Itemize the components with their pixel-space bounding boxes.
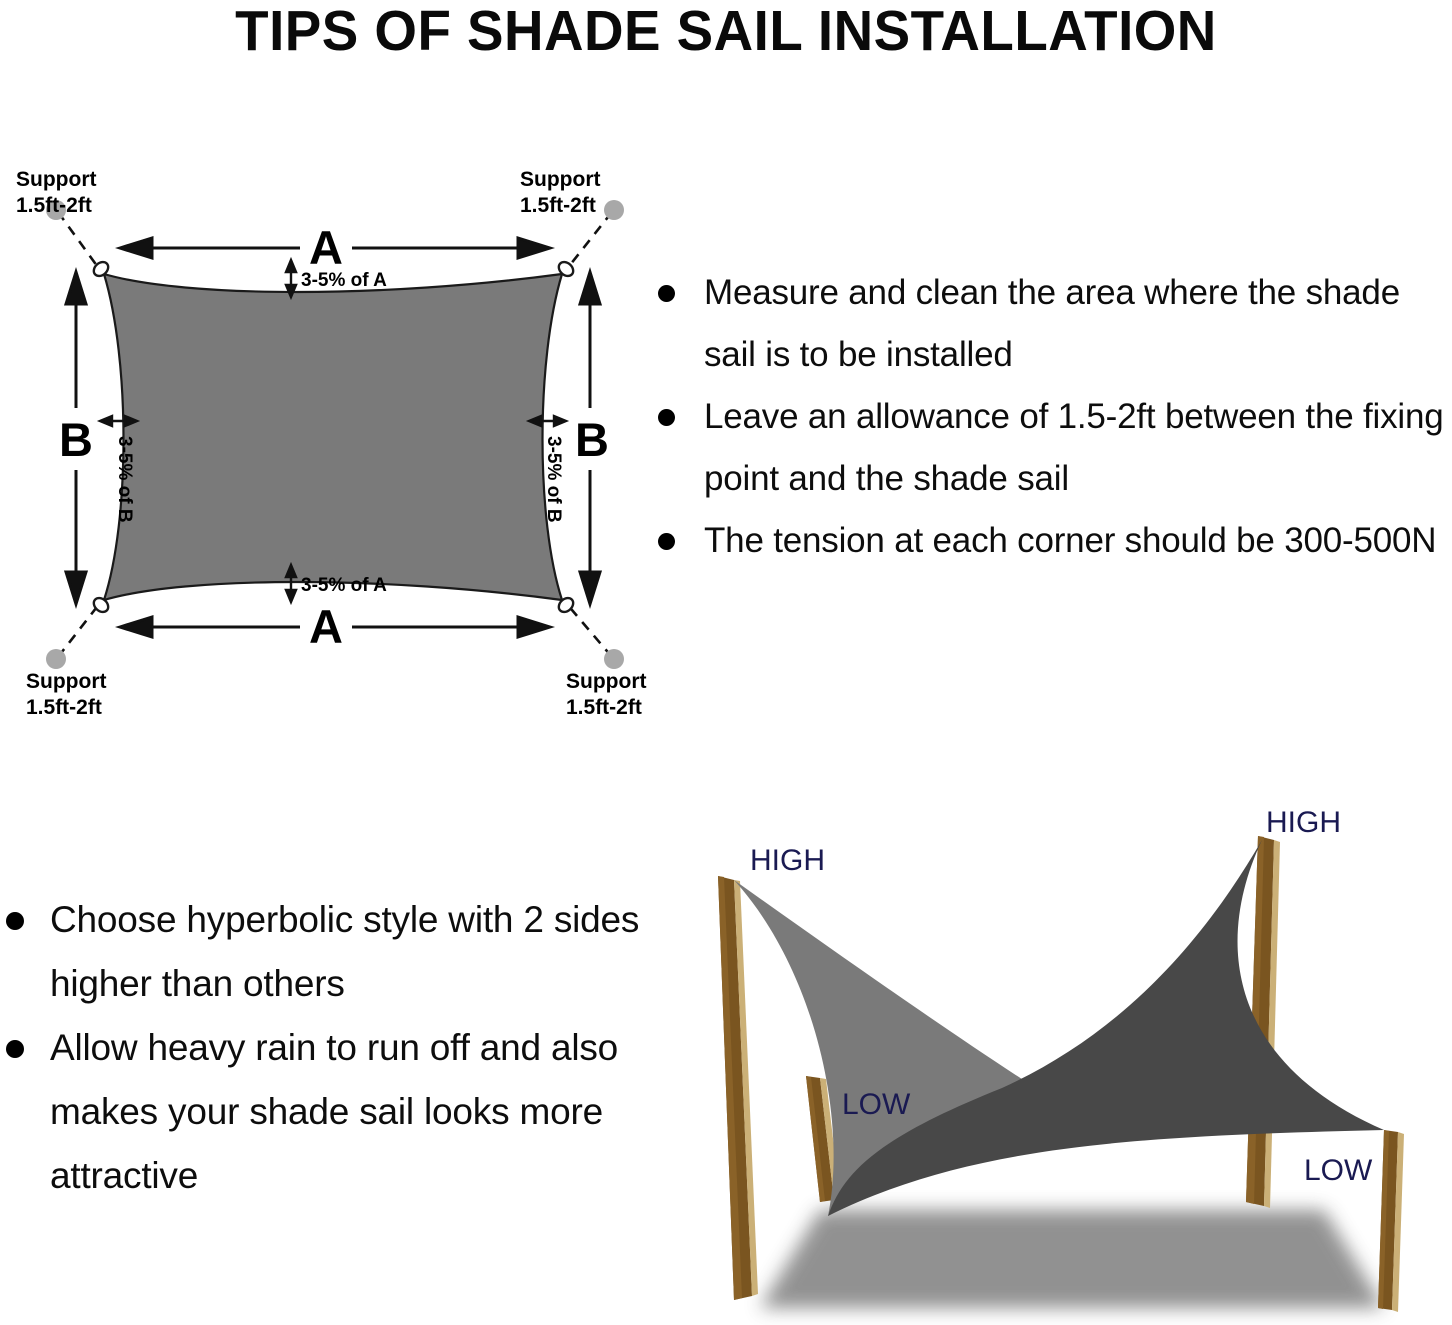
page-title: TIPS OF SHADE SAIL INSTALLATION <box>29 0 1423 62</box>
support-label-bottom-left: Support 1.5ft-2ft <box>26 670 106 719</box>
label-high-right: HIGH <box>1266 806 1341 839</box>
list-item: Leave an allowance of 1.5-2ft between th… <box>648 386 1452 510</box>
curve-callout-tick-left <box>100 416 137 426</box>
curve-callout-label-bottom: 3-5% of A <box>301 575 387 596</box>
list-item-text: Measure and clean the area where the sha… <box>704 273 1400 374</box>
support-label-top-right-line1: Support <box>520 168 600 191</box>
bullet-icon <box>658 409 675 426</box>
pole-low-right <box>1378 1130 1404 1312</box>
list-item: Allow heavy rain to run off and also mak… <box>0 1016 640 1208</box>
list-item: The tension at each corner should be 300… <box>648 510 1452 572</box>
curve-callout-label-top: 3-5% of A <box>301 270 387 291</box>
support-label-bottom-right: Support 1.5ft-2ft <box>566 670 646 719</box>
ground-shadow <box>760 1210 1384 1308</box>
support-label-bottom-right-line1: Support <box>566 670 646 693</box>
hyperbolic-style-tips-list: Choose hyperbolic style with 2 sides hig… <box>0 888 640 1248</box>
curve-callout-tick-bottom <box>286 565 296 602</box>
list-item-text: Choose hyperbolic style with 2 sides hig… <box>50 899 639 1004</box>
curve-callout-label-left: 3-5% of B <box>114 436 135 523</box>
bullet-icon <box>6 912 24 930</box>
dimension-letter-b-right: B <box>575 413 609 466</box>
curve-callout-tick-right <box>529 416 566 426</box>
support-label-bottom-left-line1: Support <box>26 670 106 693</box>
label-high-left: HIGH <box>750 844 825 877</box>
curve-callout-label-right: 3-5% of B <box>543 436 564 523</box>
installation-tips-list: Measure and clean the area where the sha… <box>648 262 1452 662</box>
support-label-bottom-left-line2: 1.5ft-2ft <box>26 696 102 719</box>
shade-sail-shape <box>104 274 562 600</box>
shade-sail-dimension-diagram: A A B B 3-5% of <box>0 160 650 735</box>
pole-high-left <box>718 876 758 1300</box>
curve-callout-tick-top <box>286 260 296 297</box>
list-item-text: Allow heavy rain to run off and also mak… <box>50 1027 618 1196</box>
bullet-icon <box>658 533 675 550</box>
dimension-letter-a-bottom: A <box>309 600 343 653</box>
label-low-left: LOW <box>842 1088 911 1121</box>
label-low-right: LOW <box>1304 1154 1373 1187</box>
list-item-text: Leave an allowance of 1.5-2ft between th… <box>704 397 1444 498</box>
support-label-top-left-line1: Support <box>16 168 96 191</box>
support-label-top-left: Support 1.5ft-2ft <box>16 168 96 217</box>
support-label-top-right: Support 1.5ft-2ft <box>520 168 600 217</box>
bullet-icon <box>658 285 675 302</box>
support-label-bottom-right-line2: 1.5ft-2ft <box>566 696 642 719</box>
bullet-icon <box>6 1040 24 1058</box>
dimension-letter-b-left: B <box>59 413 93 466</box>
dimension-letter-a-top: A <box>309 221 343 274</box>
support-label-top-right-line2: 1.5ft-2ft <box>520 194 596 217</box>
list-item: Choose hyperbolic style with 2 sides hig… <box>0 888 640 1016</box>
list-item: Measure and clean the area where the sha… <box>648 262 1452 386</box>
hyperbolic-shade-sail-illustration: HIGH HIGH LOW LOW <box>672 788 1452 1325</box>
support-label-top-left-line2: 1.5ft-2ft <box>16 194 92 217</box>
list-item-text: The tension at each corner should be 300… <box>704 521 1436 560</box>
